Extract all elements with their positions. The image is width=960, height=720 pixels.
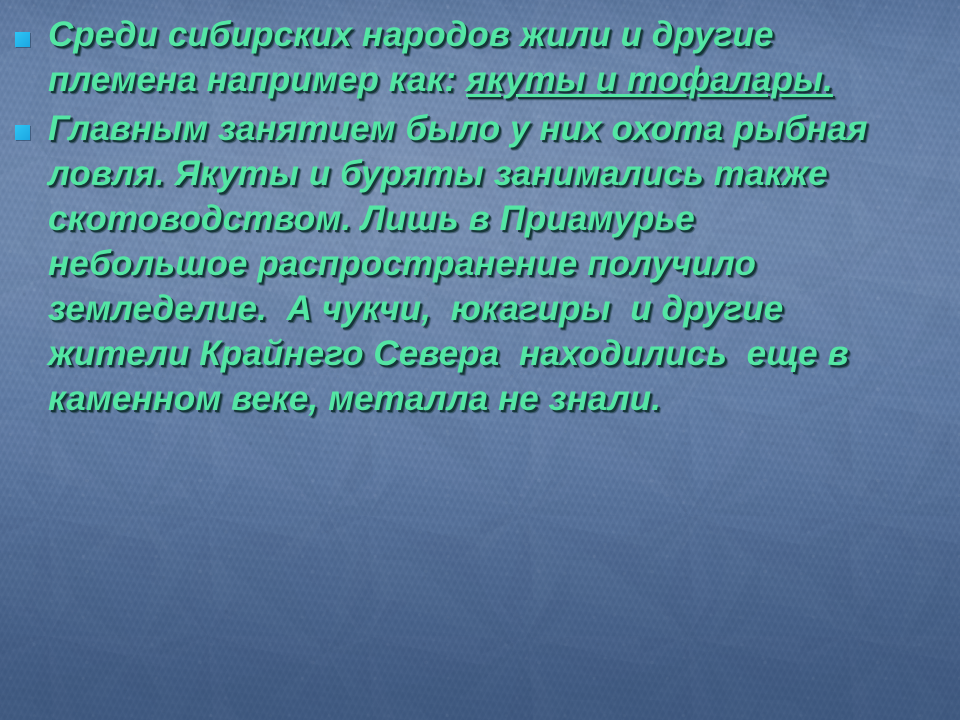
slide-background-bottom-shade — [0, 470, 960, 720]
bullet-2-line-3: скотоводством. Лишь в Приамурье — [48, 199, 695, 238]
square-bullet-icon — [15, 125, 30, 140]
bullet-2-line-6: жители Крайнего Севера находились еще в — [48, 334, 849, 373]
bullet-1-underlined-tail: якуты и тофалары. — [466, 60, 833, 99]
square-bullet-icon — [15, 32, 30, 47]
bullet-2-line-1: Главным занятием было у них охота рыбная — [48, 109, 868, 148]
bullet-1-line-2: племена например как: — [48, 60, 466, 99]
bullet-2-line-2: ловля. Якуты и буряты занимались также — [48, 154, 828, 193]
presentation-slide: Среди сибирских народов жили и другиепле… — [0, 0, 960, 720]
slide-body: Среди сибирских народов жили и другиепле… — [0, 0, 960, 421]
bullet-item-1: Среди сибирских народов жили и другиепле… — [0, 12, 960, 102]
bullet-item-2: Главным занятием было у них охота рыбная… — [0, 106, 960, 421]
bullet-2-line-5: земледелие. А чукчи, юкагиры и другие — [48, 289, 783, 328]
bullet-2-text: Главным занятием было у них охота рыбная… — [48, 106, 942, 421]
bullet-2-line-7: каменном веке, металла не знали. — [48, 379, 661, 418]
bullet-2-line-4: небольшое распространение получило — [48, 244, 756, 283]
bullet-1-line-1: Среди сибирских народов жили и другие — [48, 15, 774, 54]
bullet-1-text: Среди сибирских народов жили и другиепле… — [48, 12, 942, 102]
